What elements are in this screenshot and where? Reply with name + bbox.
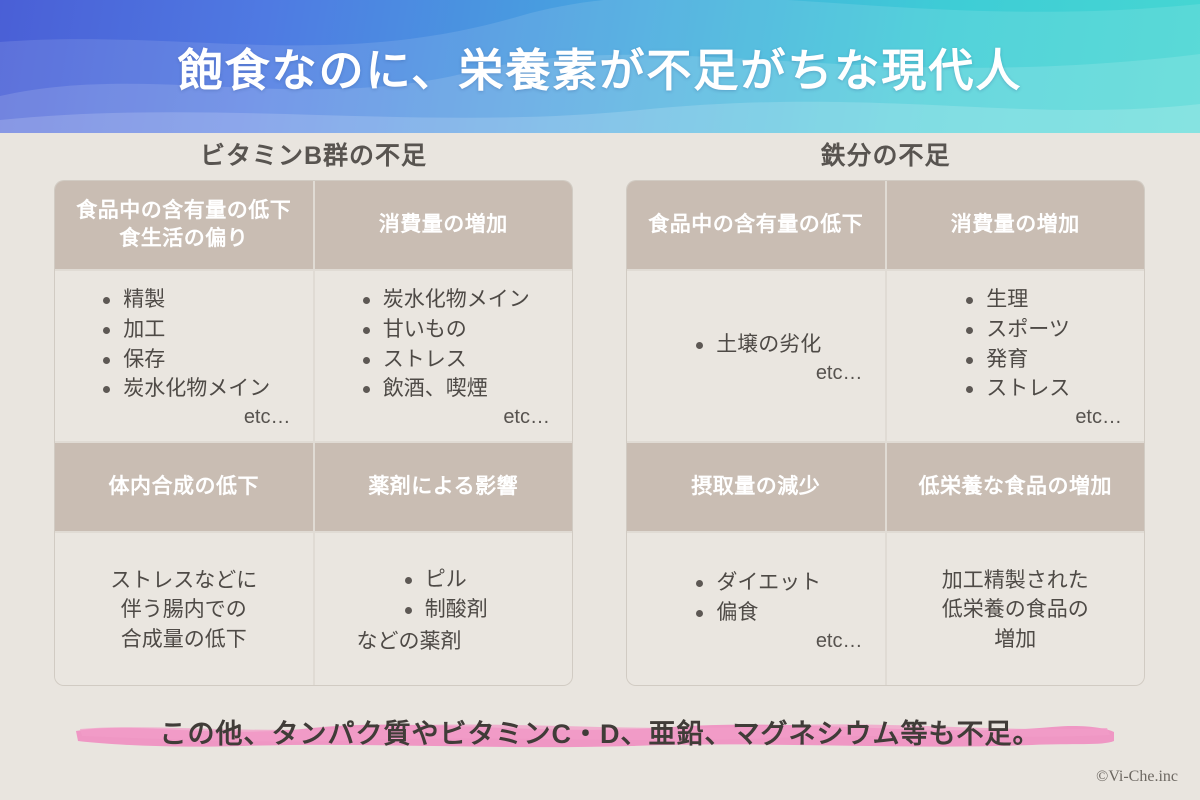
bullet-wrap: 精製 加工 保存 炭水化物メイン: [71, 285, 297, 404]
list-item: 精製: [97, 285, 270, 315]
list-item: 飲酒、喫煙: [357, 374, 530, 404]
bullet-list: ダイエット 偏食: [690, 568, 821, 628]
bullet-wrap: ピル 制酸剤 などの薬剤: [331, 565, 557, 655]
list-item: 偏食: [690, 598, 821, 628]
copyright-label: ©Vi-Che.inc: [1096, 768, 1178, 786]
panel-iron: 鉄分の不足 食品中の含有量の低下 消費量の増加 土壌の劣化 etc… 生理 スポ…: [627, 139, 1144, 685]
cell-header-low-nutrition-food-increase: 低栄養な食品の増加: [887, 443, 1145, 531]
etc-label: etc…: [643, 362, 869, 385]
cell-text: ストレスなどに 伴う腸内での 合成量の低下: [71, 566, 297, 655]
list-item: スポーツ: [960, 315, 1070, 345]
list-item: 炭水化物メイン: [97, 374, 270, 404]
cell-header-drug-effects: 薬剤による影響: [315, 443, 573, 531]
cell-header-food-content-decline-iron: 食品中の含有量の低下: [627, 181, 885, 269]
cell-body-consumption-increase-iron: 生理 スポーツ 発育 ストレス etc…: [887, 271, 1145, 441]
list-item: 炭水化物メイン: [357, 285, 530, 315]
list-item: 生理: [960, 285, 1070, 315]
list-item: ストレス: [357, 345, 530, 375]
etc-label: etc…: [903, 406, 1129, 429]
bullet-list: 生理 スポーツ 発育 ストレス: [960, 285, 1070, 404]
bullet-wrap: 土壌の劣化: [643, 330, 869, 360]
footer-note: この他、タンパク質やビタミンC・D、亜鉛、マグネシウム等も不足。: [0, 705, 1200, 757]
bullet-wrap: ダイエット 偏食: [643, 568, 869, 628]
etc-label: etc…: [643, 630, 869, 653]
bullet-list: 精製 加工 保存 炭水化物メイン: [97, 285, 270, 404]
cell-text-suffix: などの薬剤: [331, 625, 557, 655]
cell-body-food-content-decline-iron: 土壌の劣化 etc…: [627, 271, 885, 441]
table-vitamin-b: 食品中の含有量の低下 食生活の偏り 消費量の増加 精製 加工 保存 炭水化物メイ…: [55, 181, 572, 685]
bullet-wrap: 生理 スポーツ 発育 ストレス: [903, 285, 1129, 404]
list-item: 保存: [97, 345, 270, 375]
footer-note-text: この他、タンパク質やビタミンC・D、亜鉛、マグネシウム等も不足。: [0, 705, 1200, 757]
table-iron: 食品中の含有量の低下 消費量の増加 土壌の劣化 etc… 生理 スポーツ 発育 …: [627, 181, 1144, 685]
cell-body-consumption-increase: 炭水化物メイン 甘いもの ストレス 飲酒、喫煙 etc…: [315, 271, 573, 441]
panel-vitamin-b: ビタミンB群の不足 食品中の含有量の低下 食生活の偏り 消費量の増加 精製 加工…: [55, 139, 572, 685]
cell-body-low-nutrition-food-increase: 加工精製された 低栄養の食品の 増加: [887, 533, 1145, 685]
list-item: ピル: [399, 565, 488, 595]
cell-body-intake-decrease: ダイエット 偏食 etc…: [627, 533, 885, 685]
cell-header-consumption-increase: 消費量の増加: [315, 181, 573, 269]
list-item: 加工: [97, 315, 270, 345]
cell-header-intake-decrease: 摂取量の減少: [627, 443, 885, 531]
cell-header-consumption-increase-iron: 消費量の増加: [887, 181, 1145, 269]
cell-header-food-content-decline: 食品中の含有量の低下 食生活の偏り: [55, 181, 313, 269]
cell-body-food-content-decline: 精製 加工 保存 炭水化物メイン etc…: [55, 271, 313, 441]
list-item: 制酸剤: [399, 595, 488, 625]
bullet-list: 土壌の劣化: [690, 330, 821, 360]
panel-title-vitamin-b: ビタミンB群の不足: [55, 139, 572, 181]
bullet-wrap: 炭水化物メイン 甘いもの ストレス 飲酒、喫煙: [331, 285, 557, 404]
list-item: 発育: [960, 345, 1070, 375]
list-item: 土壌の劣化: [690, 330, 821, 360]
cell-body-drug-effects: ピル 制酸剤 などの薬剤: [315, 533, 573, 685]
list-item: 甘いもの: [357, 315, 530, 345]
page-title: 飽食なのに、栄養素が不足がちな現代人: [0, 0, 1200, 133]
bullet-list: ピル 制酸剤: [399, 565, 488, 625]
bullet-list: 炭水化物メイン 甘いもの ストレス 飲酒、喫煙: [357, 285, 530, 404]
header-banner: 飽食なのに、栄養素が不足がちな現代人: [0, 0, 1200, 133]
list-item: ダイエット: [690, 568, 821, 598]
list-item: ストレス: [960, 374, 1070, 404]
cell-header-internal-synthesis-decline: 体内合成の低下: [55, 443, 313, 531]
main-content: ビタミンB群の不足 食品中の含有量の低下 食生活の偏り 消費量の増加 精製 加工…: [0, 133, 1200, 800]
cell-body-internal-synthesis-decline: ストレスなどに 伴う腸内での 合成量の低下: [55, 533, 313, 685]
etc-label: etc…: [71, 406, 297, 429]
panel-title-iron: 鉄分の不足: [627, 139, 1144, 181]
etc-label: etc…: [331, 406, 557, 429]
cell-text: 加工精製された 低栄養の食品の 増加: [903, 566, 1129, 655]
